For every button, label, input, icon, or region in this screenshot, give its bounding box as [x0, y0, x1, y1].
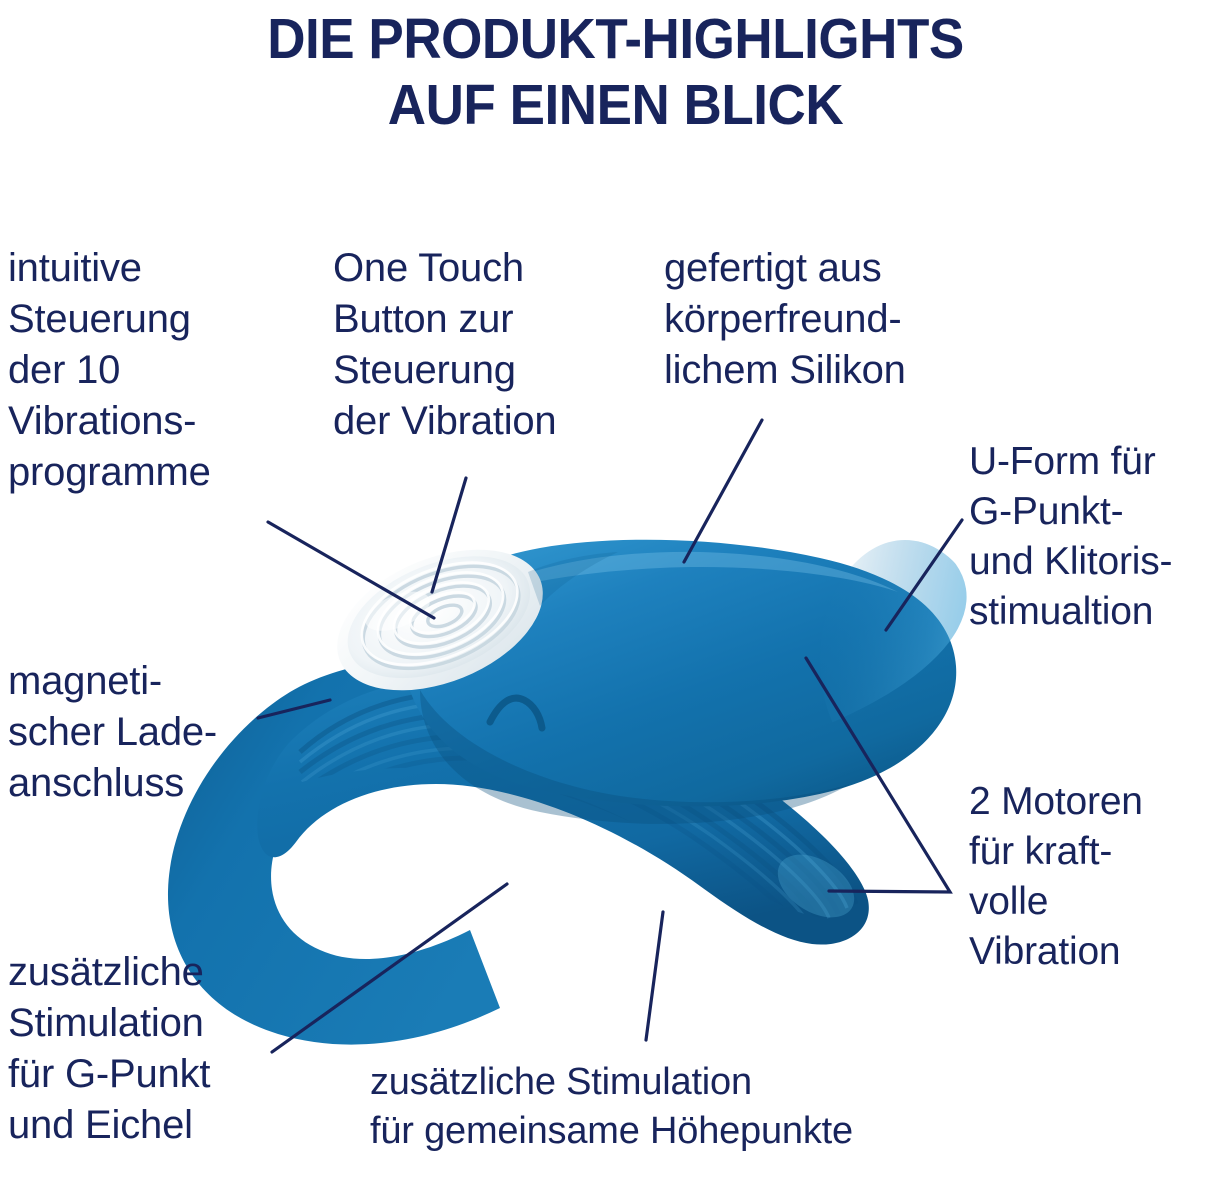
leader-one-touch — [432, 478, 466, 592]
leader-uform — [886, 520, 962, 630]
leader-zusatz-gemeinsam — [646, 912, 663, 1040]
arm-ribs — [300, 692, 856, 944]
callout-zusaetzliche-stimulation-gpunkt: zusätzliche Stimulation für G-Punkt und … — [8, 947, 308, 1151]
callout-magnetischer-ladeanschluss: magneti- scher Lade- anschluss — [8, 656, 298, 809]
callout-zusaetzliche-stimulation-gemeinsam: zusätzliche Stimulation für gemeinsame H… — [370, 1058, 1010, 1156]
arm-tip-highlight — [767, 842, 866, 931]
chevron-icon — [490, 698, 542, 728]
product-lower-arm — [257, 676, 869, 945]
bulb-sheen — [470, 552, 898, 600]
leader-lines — [258, 420, 962, 1052]
callout-one-touch-button: One Touch Button zur Steuerung der Vibra… — [333, 243, 643, 447]
bulb-edge-highlight — [820, 540, 990, 780]
one-touch-button-icon[interactable] — [317, 522, 564, 718]
leader-silikon — [684, 420, 762, 562]
callout-u-form: U-Form für G-Punkt- und Klitoris- stimua… — [969, 437, 1231, 637]
product-upper-bulb — [402, 540, 956, 807]
callout-zwei-motoren: 2 Motoren für kraft- volle Vibration — [969, 777, 1231, 977]
callout-silikon: gefertigt aus körperfreund- lichem Silik… — [664, 243, 974, 396]
page-title: DIE PRODUKT-HIGHLIGHTS AUF EINEN BLICK — [43, 6, 1188, 138]
page-title-line-2: AUF EINEN BLICK — [43, 72, 1188, 138]
infographic-root: DIE PRODUKT-HIGHLIGHTS AUF EINEN BLICK — [0, 0, 1231, 1180]
leader-motoren-bracket — [806, 658, 950, 892]
button-rim-shadow — [528, 552, 618, 606]
bulb-neck-shadow — [420, 690, 850, 824]
leader-intuitive — [268, 522, 434, 618]
page-title-line-1: DIE PRODUKT-HIGHLIGHTS — [43, 6, 1188, 72]
callout-intuitive: intuitive Steuerung der 10 Vibrations- p… — [8, 243, 308, 498]
